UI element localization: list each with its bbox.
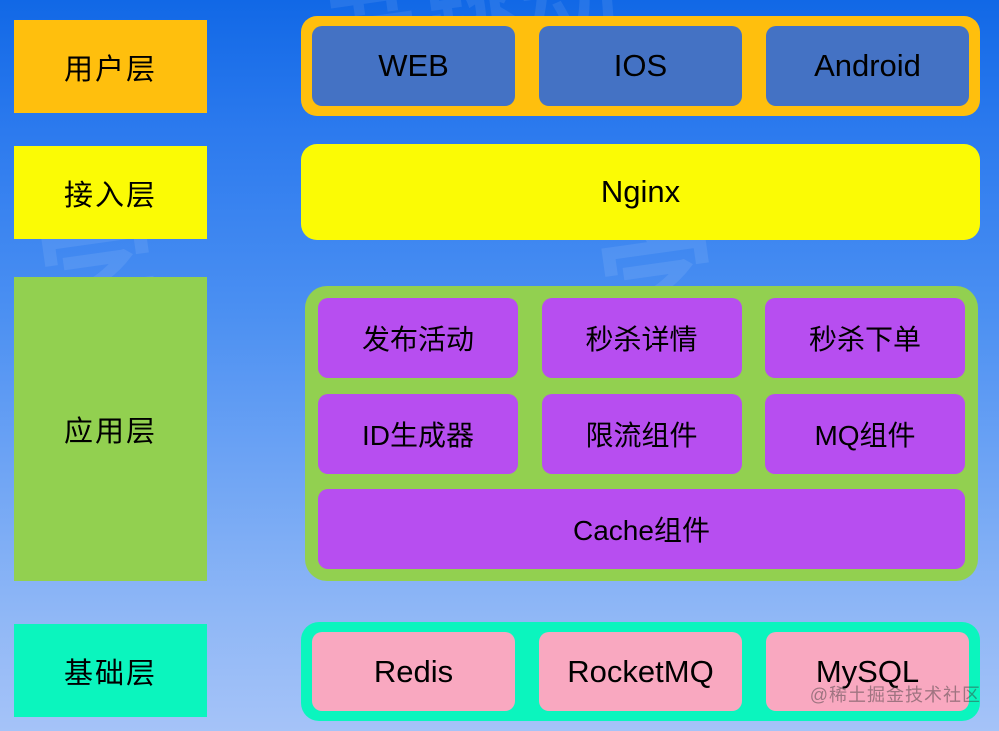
layer-label-infrastructure: 基础层: [14, 624, 207, 717]
node-nginx[interactable]: Nginx: [301, 144, 980, 240]
layer-group-application: 发布活动 秒杀详情 秒杀下单 ID生成器 限流组件 MQ组件 Cache组件: [305, 286, 978, 581]
node-mysql[interactable]: MySQL: [766, 632, 969, 711]
node-redis[interactable]: Redis: [312, 632, 515, 711]
node-mq-component[interactable]: MQ组件: [765, 394, 965, 474]
node-rocketmq[interactable]: RocketMQ: [539, 632, 742, 711]
layer-group-access: Nginx: [301, 144, 980, 240]
application-node-row: Cache组件: [318, 489, 965, 569]
layer-label-user: 用户层: [14, 20, 207, 113]
layer-label-access: 接入层: [14, 146, 207, 239]
node-seckill-order[interactable]: 秒杀下单: [765, 298, 965, 378]
node-id-generator[interactable]: ID生成器: [318, 394, 518, 474]
architecture-diagram-canvas: 字 节跳动 字 字 字 用户层 WEB IOS Android 接入层 Ngin…: [0, 0, 999, 731]
application-node-row: 发布活动 秒杀详情 秒杀下单: [318, 298, 965, 378]
node-web[interactable]: WEB: [312, 26, 515, 106]
node-android[interactable]: Android: [766, 26, 969, 106]
layer-group-infrastructure: Redis RocketMQ MySQL: [301, 622, 980, 721]
node-ios[interactable]: IOS: [539, 26, 742, 106]
node-cache-component[interactable]: Cache组件: [318, 489, 965, 569]
node-publish-activity[interactable]: 发布活动: [318, 298, 518, 378]
application-node-row: ID生成器 限流组件 MQ组件: [318, 394, 965, 474]
node-seckill-detail[interactable]: 秒杀详情: [542, 298, 742, 378]
node-rate-limiter[interactable]: 限流组件: [542, 394, 742, 474]
layer-label-application: 应用层: [14, 277, 207, 581]
layer-group-user: WEB IOS Android: [301, 16, 980, 116]
